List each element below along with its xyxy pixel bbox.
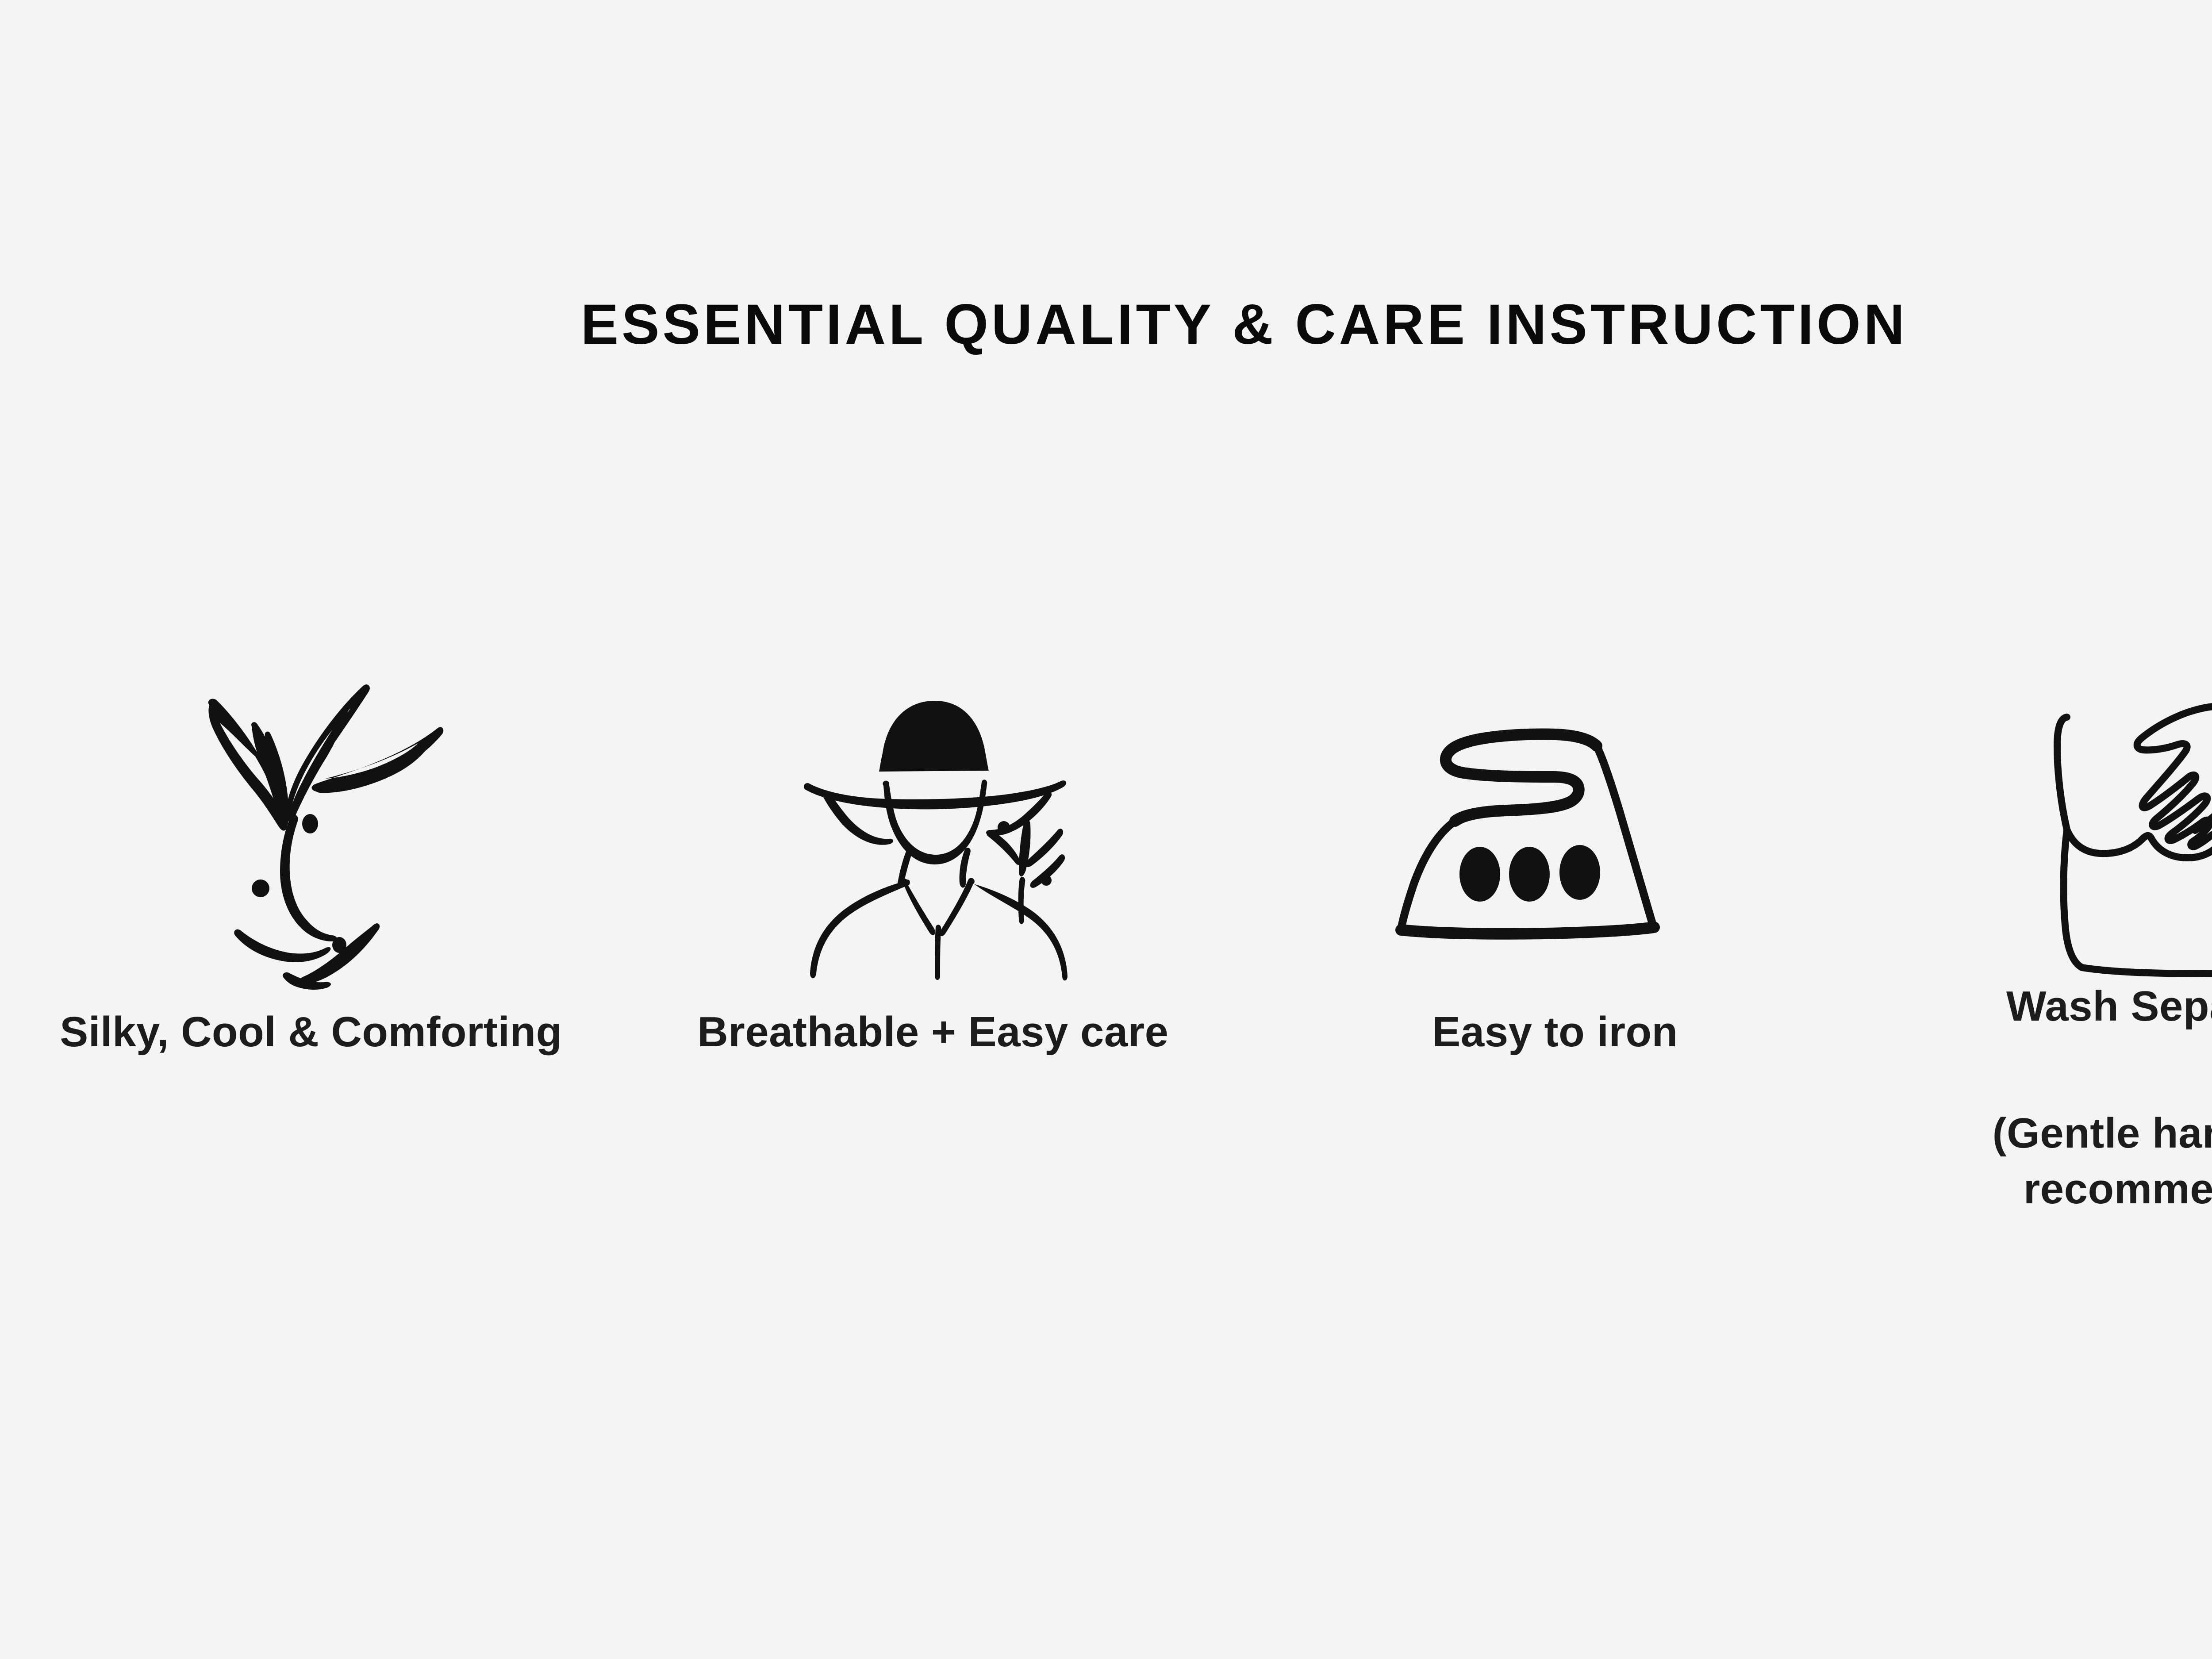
handwash-basin-icon bbox=[1996, 655, 2212, 1000]
feature-item-wash-separately: Wash Separately (Gentle handwash recomme… bbox=[1866, 655, 2212, 1217]
clothes-iron-icon bbox=[1374, 655, 1736, 1000]
farmer-with-hat-icon bbox=[752, 655, 1114, 1000]
feature-grid: Silky, Cool & Comforting bbox=[0, 655, 2212, 1217]
feature-sublabel: (Gentle handwash recommended) bbox=[1898, 1106, 2212, 1217]
feature-item-breathable-easy-care: Breathable + Easy care bbox=[622, 655, 1244, 1060]
care-instruction-panel: ESSENTIAL QUALITY & CARE INSTRUCTION bbox=[0, 0, 2212, 1659]
page-title: ESSENTIAL QUALITY & CARE INSTRUCTION bbox=[0, 292, 2212, 357]
feature-item-silky-cool-comforting: Silky, Cool & Comforting bbox=[0, 655, 622, 1060]
feature-label: Breathable + Easy care bbox=[668, 1004, 1198, 1060]
sprout-plant-icon bbox=[130, 655, 492, 1000]
feature-item-easy-to-iron: Easy to iron bbox=[1244, 655, 1866, 1060]
feature-label: Easy to iron bbox=[1290, 1004, 1820, 1060]
feature-label: Wash Separately bbox=[1912, 979, 2212, 1035]
feature-label: Silky, Cool & Comforting bbox=[46, 1004, 576, 1060]
